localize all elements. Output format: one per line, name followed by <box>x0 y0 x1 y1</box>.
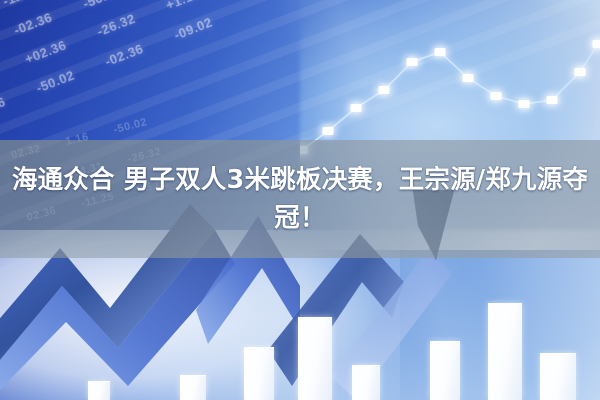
bar-column <box>88 381 110 400</box>
bar-chart-columns <box>0 250 600 400</box>
bar-column <box>180 375 206 400</box>
ticker-value: 1.16 <box>0 94 8 118</box>
ticker-value: +02.36 <box>23 37 69 66</box>
ticker-value: -11.25 <box>1 0 43 9</box>
ticker-value: -50.02 <box>34 67 77 95</box>
ticker-value: -02.36 <box>103 41 146 69</box>
headline-container: 海通众合 男子双人3米跳板决赛，王宗源/郑九源夺冠！ <box>0 140 600 258</box>
bar-column <box>488 303 522 400</box>
bar-column <box>430 341 460 400</box>
bar-column <box>298 317 332 400</box>
ticker-value: -26.32 <box>95 11 138 39</box>
bar-column <box>244 347 274 400</box>
ticker-value: -09.02 <box>172 14 215 42</box>
news-banner-image: +45.02-21.65+4.36-8.12-02.35-11.25+45.02… <box>0 0 600 400</box>
page-title: 海通众合 男子双人3米跳板决赛，王宗源/郑九源夺冠！ <box>6 161 594 237</box>
ticker-value: +1.16 <box>164 0 202 13</box>
bar-column <box>540 353 576 400</box>
ticker-value: -50.02 <box>81 0 124 11</box>
bar-column <box>352 365 380 400</box>
ticker-value: -02.36 <box>12 10 55 38</box>
